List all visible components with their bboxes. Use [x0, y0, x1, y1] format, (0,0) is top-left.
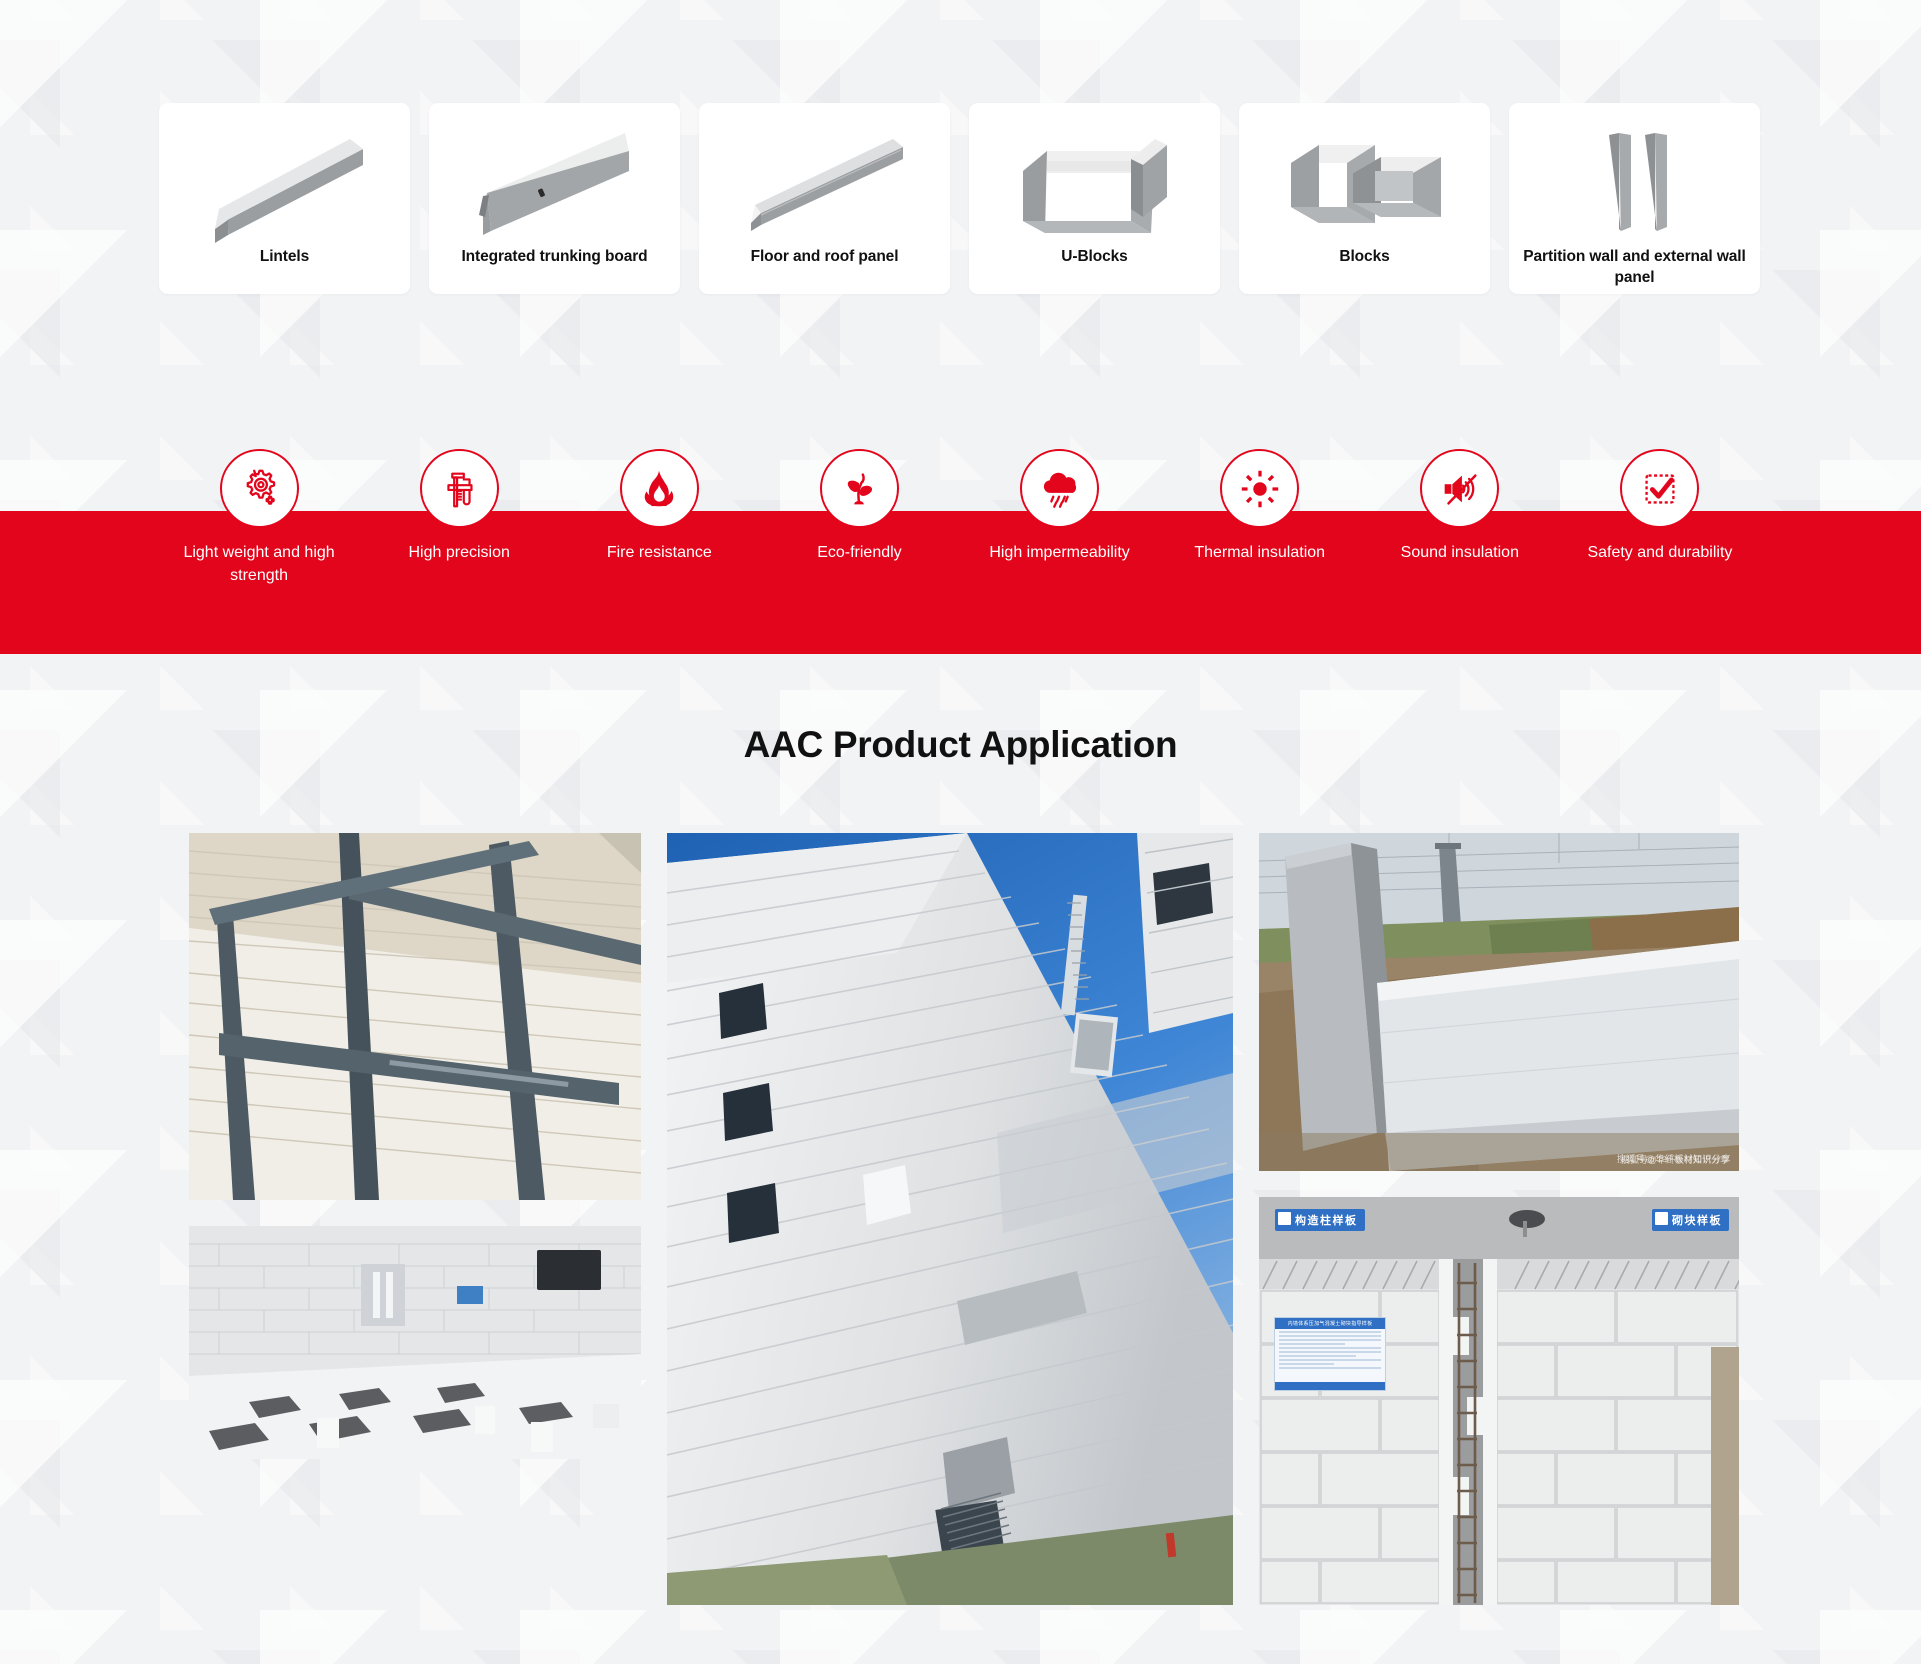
- feature-sound-insulation[interactable]: Sound insulation: [1360, 449, 1560, 654]
- product-card-u-blocks[interactable]: U-Blocks: [969, 103, 1220, 294]
- feature-label: High precision: [408, 542, 509, 565]
- feature-label: Eco-friendly: [817, 542, 901, 565]
- feature-label: High impermeability: [989, 542, 1130, 565]
- partition-panel-3d-icon: [1545, 121, 1725, 247]
- gallery-photo-aac-wall-panel-outdoor-site[interactable]: 搜狐号@华纤板材知识分享 搜狐号@华纤板材知识分享: [1259, 833, 1739, 1171]
- product-card-partition-wall-panel[interactable]: Partition wall and external wall panel: [1509, 103, 1760, 294]
- floor-roof-panel-3d-icon: [735, 121, 915, 247]
- gallery-photo-aac-block-interior-room[interactable]: [189, 1226, 641, 1459]
- product-card-label: Lintels: [250, 247, 319, 268]
- feature-eco-friendly[interactable]: Eco-friendly: [759, 449, 959, 654]
- feature-label: Sound insulation: [1401, 542, 1519, 565]
- page-title: AAC Product Application: [0, 724, 1921, 766]
- lintel-bar-3d-icon: [195, 121, 375, 247]
- feature-thermal-insulation[interactable]: Thermal insulation: [1160, 449, 1360, 654]
- wall-sign-right: 砌块样板: [1652, 1209, 1729, 1231]
- gallery-photo-steel-frame-roof-panel-interior[interactable]: [189, 833, 641, 1200]
- product-card-label: Floor and roof panel: [741, 247, 909, 268]
- rain-cloud-icon: [1020, 449, 1099, 528]
- gallery-photo-aac-panel-facade-building[interactable]: [667, 833, 1233, 1605]
- features-row: Light weight and high strength High prec…: [159, 449, 1760, 654]
- product-card-label: Partition wall and external wall panel: [1509, 247, 1760, 289]
- product-card-label: Blocks: [1329, 247, 1399, 268]
- gallery-column-middle: [667, 833, 1233, 1605]
- product-card-lintels[interactable]: Lintels: [159, 103, 410, 294]
- wall-info-board: 内墙体系压加气混凝土砌块指导样板: [1274, 1317, 1386, 1391]
- application-gallery: 搜狐号@华纤板材知识分享 搜狐号@华纤板材知识分享: [189, 833, 1739, 1605]
- flame-icon: [620, 449, 699, 528]
- wall-info-board-title: 内墙体系压加气混凝土砌块指导样板: [1275, 1318, 1385, 1329]
- u-block-3d-icon: [1005, 121, 1185, 247]
- wall-sign-left: 构造柱样板: [1275, 1209, 1365, 1231]
- gears-icon: [220, 449, 299, 528]
- product-card-floor-and-roof-panel[interactable]: Floor and roof panel: [699, 103, 950, 294]
- gallery-column-right: 搜狐号@华纤板材知识分享 搜狐号@华纤板材知识分享: [1259, 833, 1739, 1605]
- feature-high-impermeability[interactable]: High impermeability: [960, 449, 1160, 654]
- gallery-photo-aac-block-sample-wall[interactable]: 构造柱样板 砌块样板 内墙体系压加气混凝土砌块指导样板: [1259, 1197, 1739, 1605]
- feature-label: Fire resistance: [607, 542, 712, 565]
- feature-label: Light weight and high strength: [175, 542, 343, 587]
- product-card-label: U-Blocks: [1051, 247, 1137, 268]
- trunking-board-3d-icon: [465, 121, 645, 247]
- block-3d-icon: [1275, 121, 1455, 247]
- speaker-muted-icon: [1420, 449, 1499, 528]
- gallery-column-left: [189, 833, 641, 1605]
- product-card-blocks[interactable]: Blocks: [1239, 103, 1490, 294]
- sun-icon: [1220, 449, 1299, 528]
- sprout-leaf-icon: [820, 449, 899, 528]
- feature-label: Safety and durability: [1587, 542, 1732, 565]
- feature-fire-resistance[interactable]: Fire resistance: [559, 449, 759, 654]
- feature-label: Thermal insulation: [1194, 542, 1325, 565]
- caliper-icon: [420, 449, 499, 528]
- photo-watermark: 搜狐号@华纤板材知识分享: [1617, 1152, 1731, 1165]
- product-card-label: Integrated trunking board: [451, 247, 657, 268]
- product-card-integrated-trunking-board[interactable]: Integrated trunking board: [429, 103, 680, 294]
- feature-high-precision[interactable]: High precision: [359, 449, 559, 654]
- checkbox-check-icon: [1620, 449, 1699, 528]
- product-card-strip: Lintels Integrated trunking board: [159, 103, 1760, 303]
- feature-safety-and-durability[interactable]: Safety and durability: [1560, 449, 1760, 654]
- feature-light-weight-high-strength[interactable]: Light weight and high strength: [159, 449, 359, 654]
